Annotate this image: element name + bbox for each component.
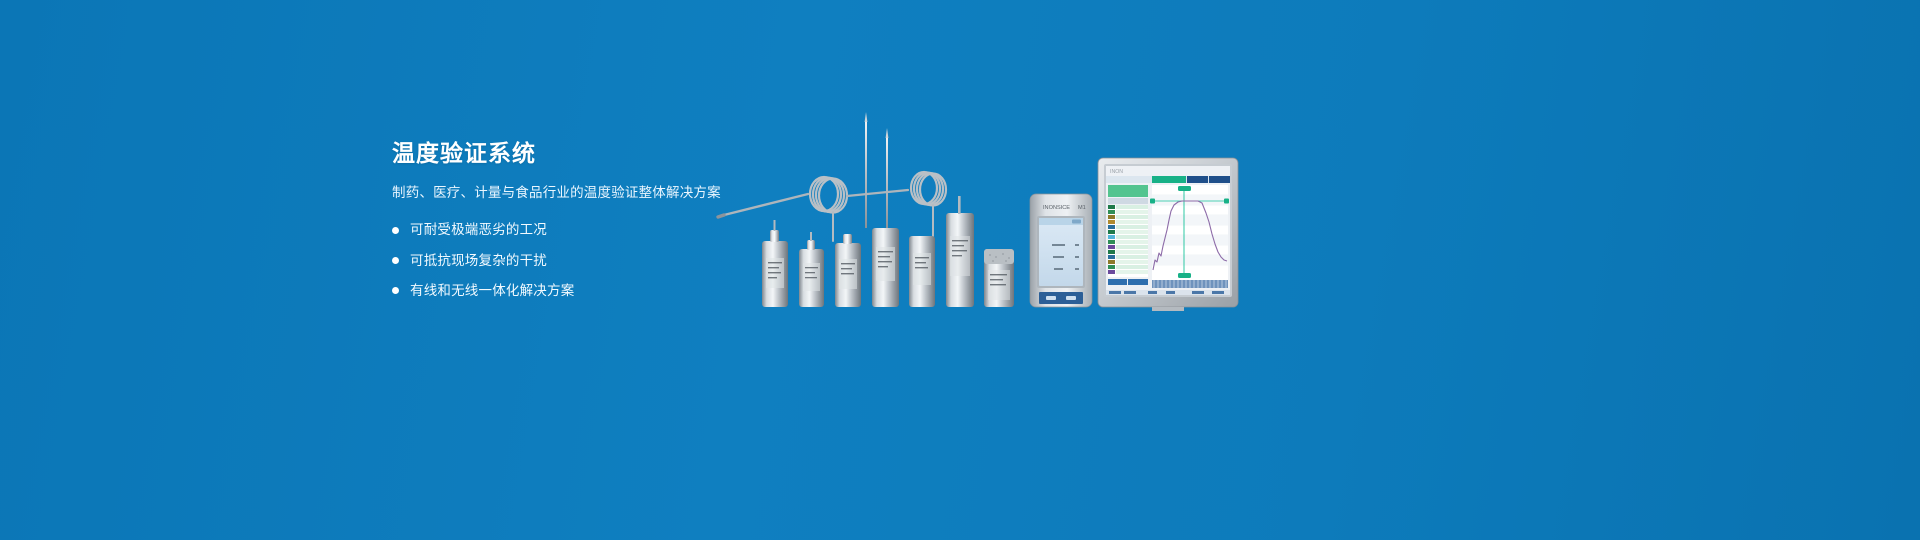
logger-body [872, 228, 899, 307]
logger-body [835, 234, 861, 307]
handheld-button-back [1066, 296, 1076, 300]
product-photo-group: INONSICE M1 [700, 110, 1240, 330]
logger-body [984, 249, 1014, 307]
monitor-display[interactable]: INON [1098, 158, 1238, 311]
tab-report [1187, 176, 1208, 183]
handheld-brand-label: INONSICE [1043, 205, 1070, 211]
feature-label: 可抵抗现场复杂的干扰 [410, 253, 547, 269]
feature-label: 有线和无线一体化解决方案 [410, 283, 574, 299]
logger-body [762, 220, 788, 307]
handheld-button-confirm [1046, 296, 1056, 300]
feature-label: 可耐受极端恶劣的工况 [410, 222, 547, 238]
handheld-reader[interactable]: INONSICE M1 [1030, 194, 1092, 307]
bullet-dot-icon [392, 287, 399, 294]
logger-body [799, 232, 824, 307]
logger-body [946, 196, 974, 307]
chart-cursor-label-top [1178, 186, 1191, 191]
bullet-dot-icon [392, 227, 399, 234]
product-illustration: INONSICE M1 [700, 110, 1240, 330]
channel-table [1108, 205, 1148, 285]
tab-export [1209, 176, 1230, 183]
coiled-cable-group [718, 172, 946, 241]
logger-body [909, 236, 935, 307]
hero-banner: 温度验证系统 制药、医疗、计量与食品行业的温度验证整体解决方案 可耐受极端恶劣的… [0, 0, 1920, 540]
monitor-brand-label: INON [1110, 169, 1123, 175]
chart-cursor-label-bottom [1178, 273, 1191, 278]
handheld-model-label: M1 [1078, 205, 1086, 211]
probe-needle-group [865, 112, 889, 230]
bullet-dot-icon [392, 257, 399, 264]
tab-realtime-curve [1152, 176, 1186, 183]
